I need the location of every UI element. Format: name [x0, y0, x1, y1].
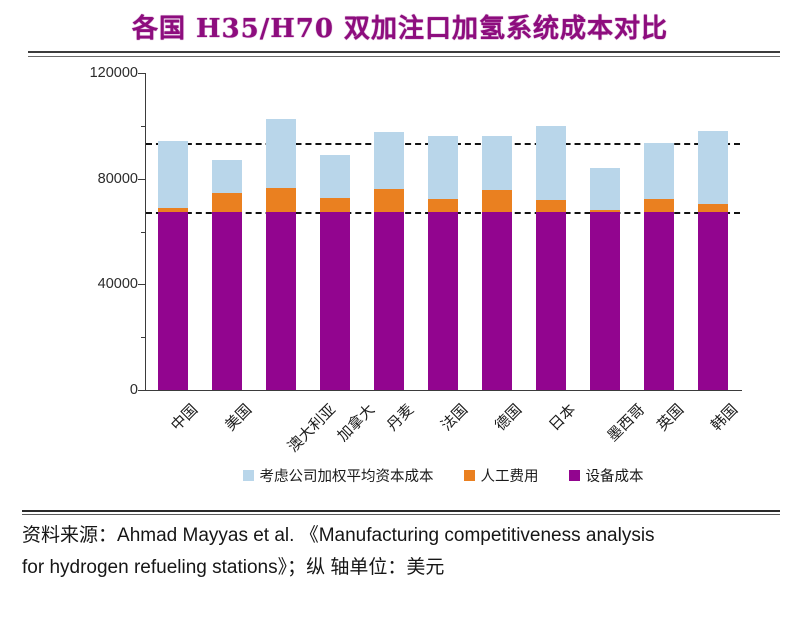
- x-tick-label-墨西哥: 墨西哥: [602, 399, 649, 446]
- bar-segment-考虑公司加权平均资本成本: [266, 119, 296, 188]
- bar-segment-考虑公司加权平均资本成本: [644, 143, 674, 199]
- legend-item-考虑公司加权平均资本成本: 考虑公司加权平均资本成本: [243, 465, 434, 486]
- bar-segment-人工费用: [644, 199, 674, 212]
- bar-segment-设备成本: [428, 212, 458, 390]
- bar-segment-人工费用: [428, 199, 458, 212]
- y-tick-label: 80000: [88, 171, 138, 187]
- footer-divider-thick: [22, 510, 780, 512]
- legend-swatch-icon: [464, 470, 475, 481]
- y-tick-major: [138, 73, 146, 74]
- bar-法国: [428, 136, 458, 390]
- bar-segment-考虑公司加权平均资本成本: [428, 136, 458, 198]
- source-citation-1: Ahmad Mayyas et al. 《Manufacturing: [117, 525, 439, 546]
- x-tick-label-美国: 美国: [220, 399, 256, 435]
- bar-澳大利亚: [266, 119, 296, 390]
- y-tick-major: [138, 179, 146, 180]
- bar-segment-设备成本: [482, 212, 512, 390]
- bar-segment-人工费用: [212, 193, 242, 212]
- x-tick-label-法国: 法国: [436, 399, 472, 435]
- x-tick-label-英国: 英国: [652, 399, 688, 435]
- bar-墨西哥: [590, 168, 620, 390]
- bar-segment-考虑公司加权平均资本成本: [374, 132, 404, 189]
- source-note: 资料来源：Ahmad Mayyas et al. 《Manufacturing …: [22, 520, 662, 584]
- plot-area: [146, 73, 740, 390]
- x-tick-label-中国: 中国: [166, 399, 202, 435]
- bar-segment-人工费用: [536, 200, 566, 212]
- bar-丹麦: [374, 132, 404, 390]
- bar-英国: [644, 143, 674, 390]
- y-tick-label: 0: [88, 382, 138, 398]
- bar-segment-人工费用: [266, 188, 296, 212]
- x-tick-label-澳大利亚: 澳大利亚: [283, 399, 340, 456]
- bar-segment-设备成本: [536, 212, 566, 390]
- bar-segment-考虑公司加权平均资本成本: [590, 168, 620, 209]
- bar-segment-设备成本: [590, 212, 620, 390]
- bar-美国: [212, 160, 242, 390]
- bar-日本: [536, 126, 566, 390]
- bar-segment-人工费用: [320, 198, 350, 212]
- bar-加拿大: [320, 155, 350, 390]
- bar-segment-设备成本: [644, 212, 674, 390]
- source-axis-note-b: 轴单位：美元: [330, 556, 444, 578]
- bar-中国: [158, 141, 188, 390]
- y-tick-major: [138, 390, 146, 391]
- legend-item-人工费用: 人工费用: [464, 465, 539, 486]
- footer-divider-thin: [22, 514, 780, 515]
- chart-area: 04000080000120000 中国美国澳大利亚加拿大丹麦法国德国日本墨西哥…: [0, 60, 800, 510]
- bar-segment-考虑公司加权平均资本成本: [698, 131, 728, 204]
- bar-segment-设备成本: [374, 212, 404, 390]
- bar-segment-设备成本: [158, 212, 188, 390]
- y-tick-label: 120000: [88, 65, 138, 81]
- x-axis-line: [146, 390, 742, 391]
- legend-item-设备成本: 设备成本: [569, 465, 644, 486]
- bar-segment-人工费用: [698, 204, 728, 212]
- x-tick-label-加拿大: 加拿大: [332, 399, 379, 446]
- x-tick-label-韩国: 韩国: [706, 399, 742, 435]
- bar-segment-人工费用: [482, 190, 512, 212]
- source-label: 资料来源：: [22, 524, 117, 546]
- y-tick-major: [138, 284, 146, 285]
- bar-德国: [482, 136, 512, 390]
- chart-legend: 考虑公司加权平均资本成本人工费用设备成本: [146, 465, 740, 486]
- bar-segment-设备成本: [320, 212, 350, 390]
- legend-label: 人工费用: [481, 465, 539, 486]
- legend-swatch-icon: [569, 470, 580, 481]
- legend-label: 设备成本: [586, 465, 644, 486]
- bar-segment-考虑公司加权平均资本成本: [536, 126, 566, 200]
- legend-label: 考虑公司加权平均资本成本: [260, 465, 434, 486]
- bar-segment-设备成本: [698, 212, 728, 390]
- bar-segment-考虑公司加权平均资本成本: [158, 141, 188, 208]
- x-tick-label-日本: 日本: [544, 399, 580, 435]
- y-tick-label: 40000: [88, 276, 138, 292]
- title-divider-thin: [28, 56, 780, 57]
- bar-segment-设备成本: [212, 212, 242, 390]
- bar-segment-考虑公司加权平均资本成本: [212, 160, 242, 193]
- x-tick-label-德国: 德国: [490, 399, 526, 435]
- legend-swatch-icon: [243, 470, 254, 481]
- bar-韩国: [698, 131, 728, 390]
- title-divider-thick: [28, 51, 780, 53]
- bar-segment-设备成本: [266, 212, 296, 390]
- source-axis-note-a: 纵: [306, 556, 325, 578]
- x-tick-label-丹麦: 丹麦: [382, 399, 418, 435]
- chart-title: 各国 H35/H70 双加注口加氢系统成本对比: [0, 8, 800, 45]
- bar-segment-人工费用: [374, 189, 404, 212]
- bar-segment-考虑公司加权平均资本成本: [482, 136, 512, 190]
- bar-segment-考虑公司加权平均资本成本: [320, 155, 350, 198]
